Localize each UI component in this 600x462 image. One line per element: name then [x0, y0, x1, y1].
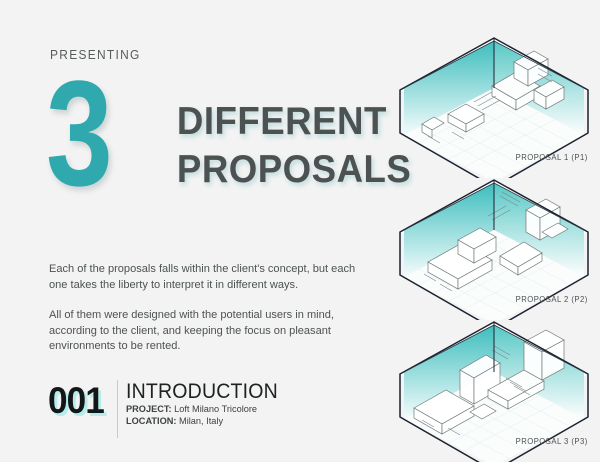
render-caption-2: PROPOSAL 2 (P2) [516, 295, 588, 304]
project-label: PROJECT: [126, 404, 172, 415]
left-column: PRESENTING 3 DIFFERENT PROPOSALS Each of… [0, 0, 395, 460]
headline: DIFFERENT PROPOSALS [177, 98, 379, 194]
headline-line-2: PROPOSALS [177, 146, 379, 194]
body-copy: Each of the proposals falls within the c… [49, 262, 369, 370]
location-value: Milan, Italy [179, 416, 223, 427]
section-footer: 001 INTRODUCTION PROJECT: Loft Milano Tr… [48, 380, 378, 442]
footer-text-group: INTRODUCTION PROJECT: Loft Milano Tricol… [126, 380, 289, 429]
big-number: 3 [46, 58, 113, 208]
render-caption-1: PROPOSAL 1 (P1) [516, 153, 588, 162]
render-card-1: PROPOSAL 1 (P1) [388, 28, 600, 178]
project-line: PROJECT: Loft Milano Tricolore [126, 404, 283, 416]
slide-canvas: PRESENTING 3 DIFFERENT PROPOSALS Each of… [0, 0, 600, 460]
project-value: Loft Milano Tricolore [174, 404, 257, 415]
section-title: INTRODUCTION [126, 380, 278, 404]
render-card-2: PROPOSAL 2 (P2) [388, 170, 600, 320]
location-label: LOCATION: [126, 416, 176, 427]
headline-line-1: DIFFERENT [177, 98, 379, 146]
body-paragraph-1: Each of the proposals falls within the c… [49, 262, 369, 293]
body-paragraph-2: All of them were designed with the poten… [49, 308, 369, 355]
footer-divider [117, 380, 118, 438]
section-number: 001 [48, 382, 104, 419]
location-line: LOCATION: Milan, Italy [126, 416, 283, 428]
render-caption-3: PROPOSAL 3 (P3) [516, 437, 588, 446]
render-card-3: PROPOSAL 3 (P3) [388, 312, 600, 462]
right-column: PROPOSAL 1 (P1) [388, 0, 600, 460]
